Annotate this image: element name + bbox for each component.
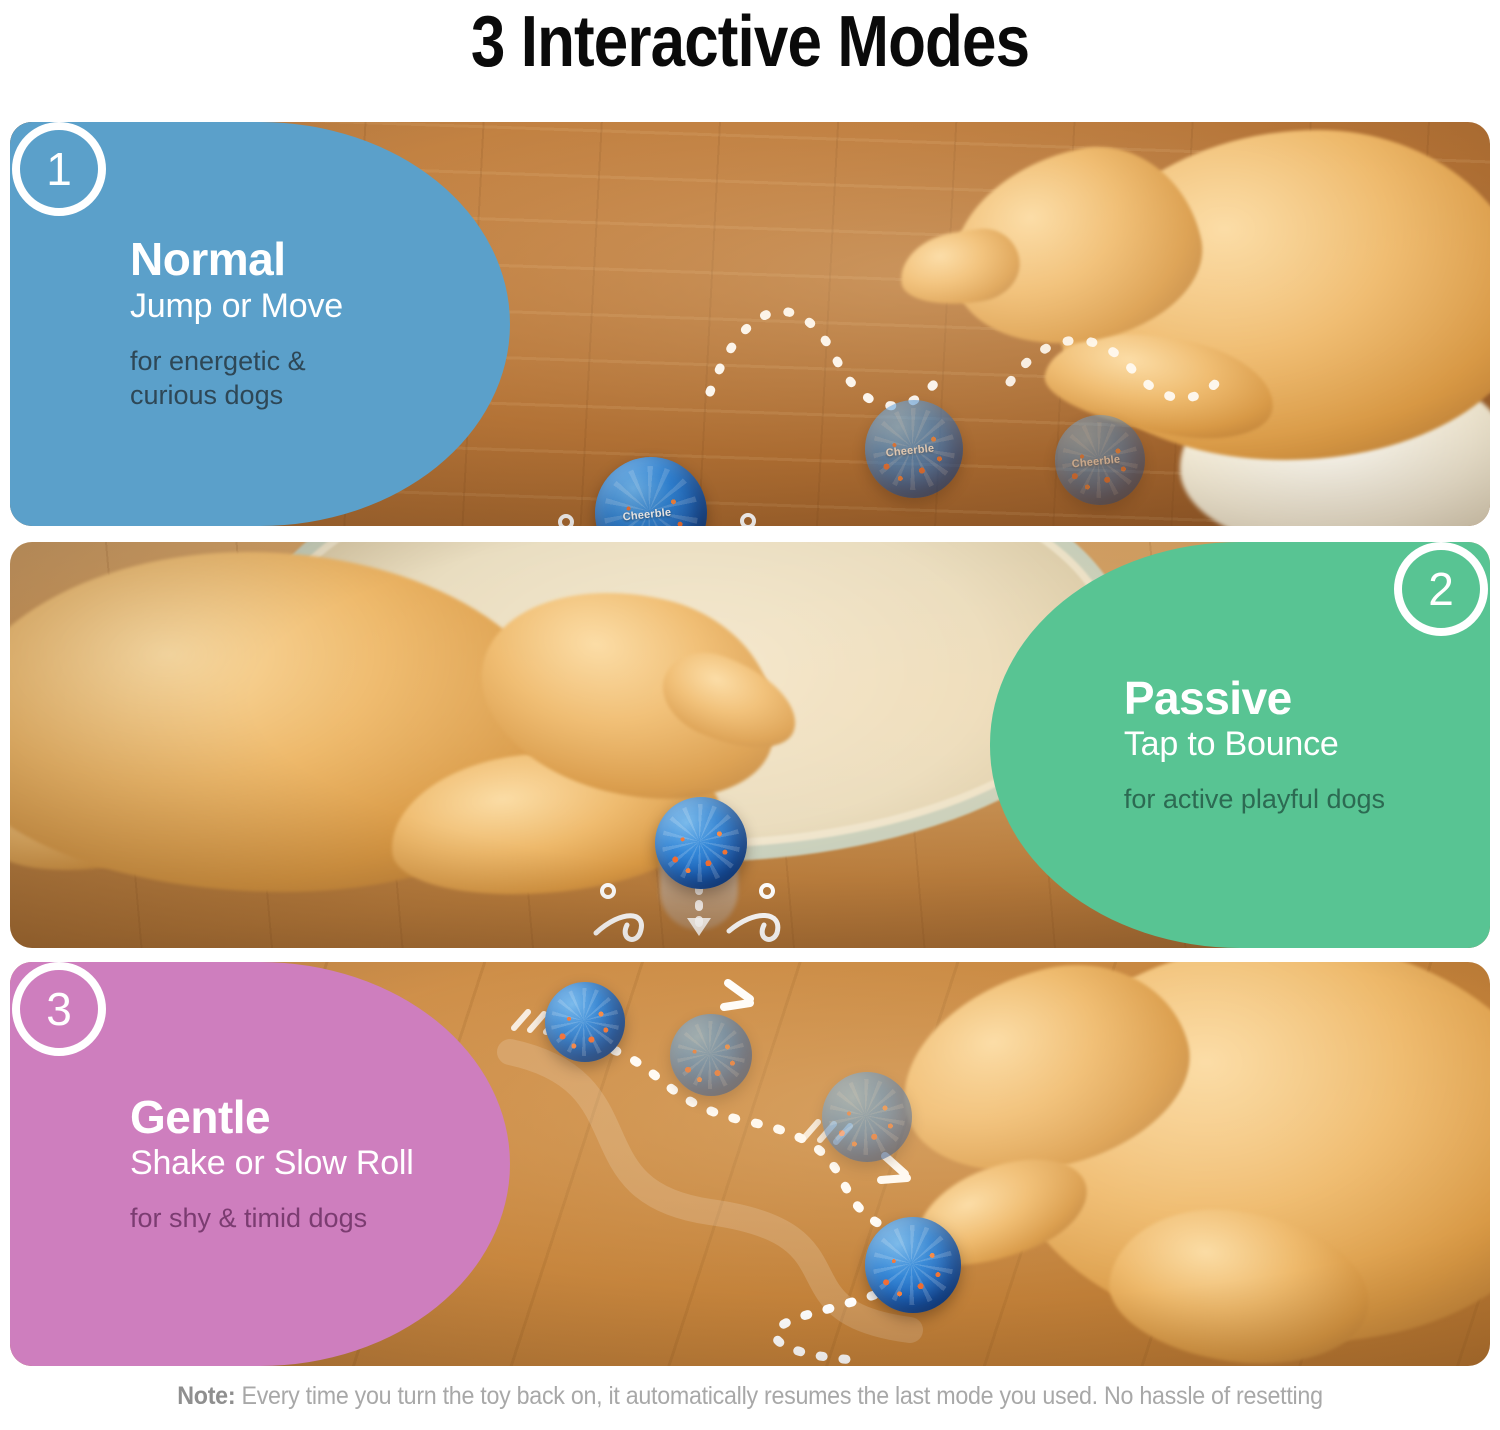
mode-number-badge-2: 2 <box>1394 542 1488 636</box>
mode-panel-normal: Cheerble Cheerble Cheerble Normal Jump o… <box>10 122 1490 526</box>
footer-note-text: Every time you turn the toy back on, it … <box>235 1382 1322 1410</box>
mode-audience: for shy & timid dogs <box>130 1201 414 1236</box>
mode-panel-gentle: Gentle Shake or Slow Roll for shy & timi… <box>10 962 1490 1366</box>
mode-panel-passive: Passive Tap to Bounce for active playful… <box>10 542 1490 948</box>
mode-name: Normal <box>130 235 343 285</box>
mode-number-badge-1: 1 <box>12 122 106 216</box>
footer-note: Note: Every time you turn the toy back o… <box>53 1382 1448 1411</box>
page-title: 3 Interactive Modes <box>105 0 1395 78</box>
mode-number-badge-3: 3 <box>12 962 106 1056</box>
mode-name: Gentle <box>130 1093 414 1143</box>
mode-action: Shake or Slow Roll <box>130 1142 414 1185</box>
mode-audience: for active playful dogs <box>1124 782 1385 817</box>
mode-audience: for energetic & curious dogs <box>130 344 343 413</box>
infographic-page: 3 Interactive Modes Cheerble <box>0 0 1500 1430</box>
mode-action: Jump or Move <box>130 285 343 328</box>
mode-action: Tap to Bounce <box>1124 723 1385 766</box>
footer-note-label: Note: <box>177 1382 235 1410</box>
mode-name: Passive <box>1124 674 1385 724</box>
